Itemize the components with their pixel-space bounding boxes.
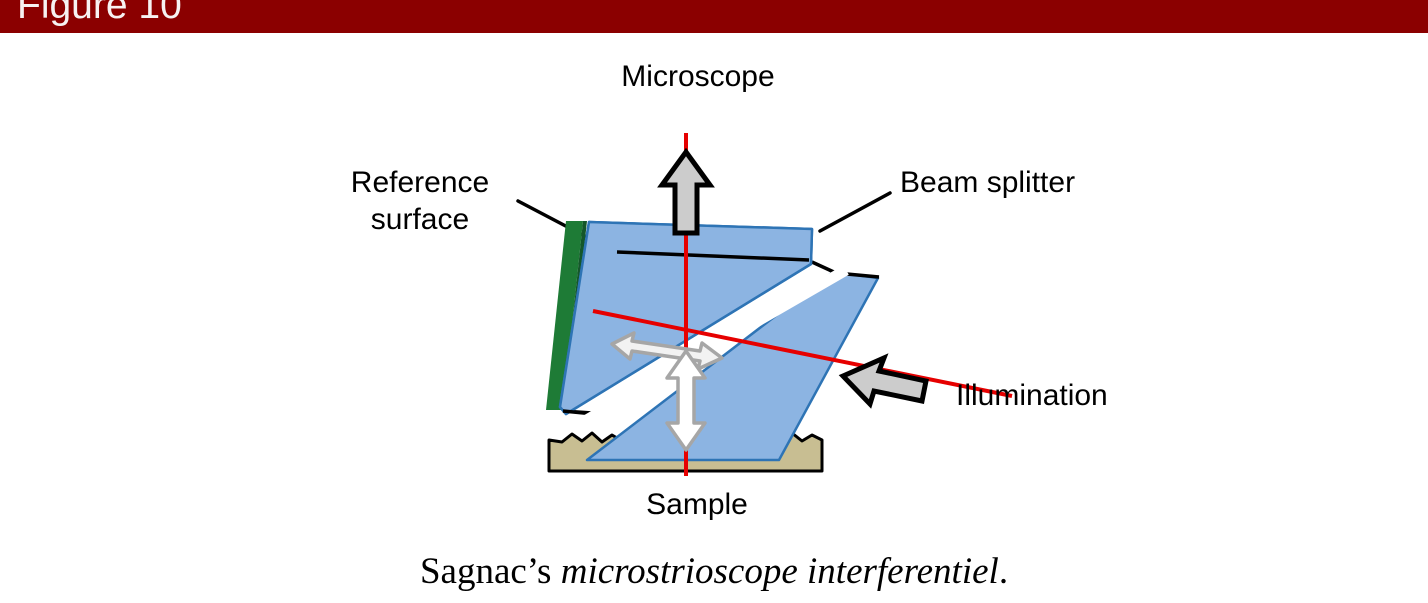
slide-canvas: Figure 10	[0, 0, 1428, 603]
header-banner: Figure 10	[0, 0, 1428, 33]
label-illumination: Illumination	[956, 379, 1108, 412]
caption-italic-part: microstrioscope interferentiel	[561, 551, 999, 592]
microscope-up-arrow	[662, 152, 710, 233]
page-title: Figure 10	[17, 0, 182, 27]
label-reference-surface-line1: Reference	[351, 166, 489, 199]
label-beam-splitter: Beam splitter	[900, 166, 1075, 199]
label-reference-surface-line2: surface	[371, 203, 469, 236]
prism-beamsplitter-block	[559, 218, 879, 460]
caption-roman-suffix: .	[999, 551, 1008, 592]
label-microscope: Microscope	[621, 60, 774, 93]
beam-splitter-leader	[820, 193, 890, 231]
caption-roman-prefix: Sagnac’s	[420, 551, 561, 592]
label-sample: Sample	[646, 488, 748, 521]
figure-caption: Sagnac’s microstrioscope interferentiel.	[0, 549, 1428, 595]
figure-diagram: Microscope Reference surface Beam splitt…	[0, 33, 1428, 545]
